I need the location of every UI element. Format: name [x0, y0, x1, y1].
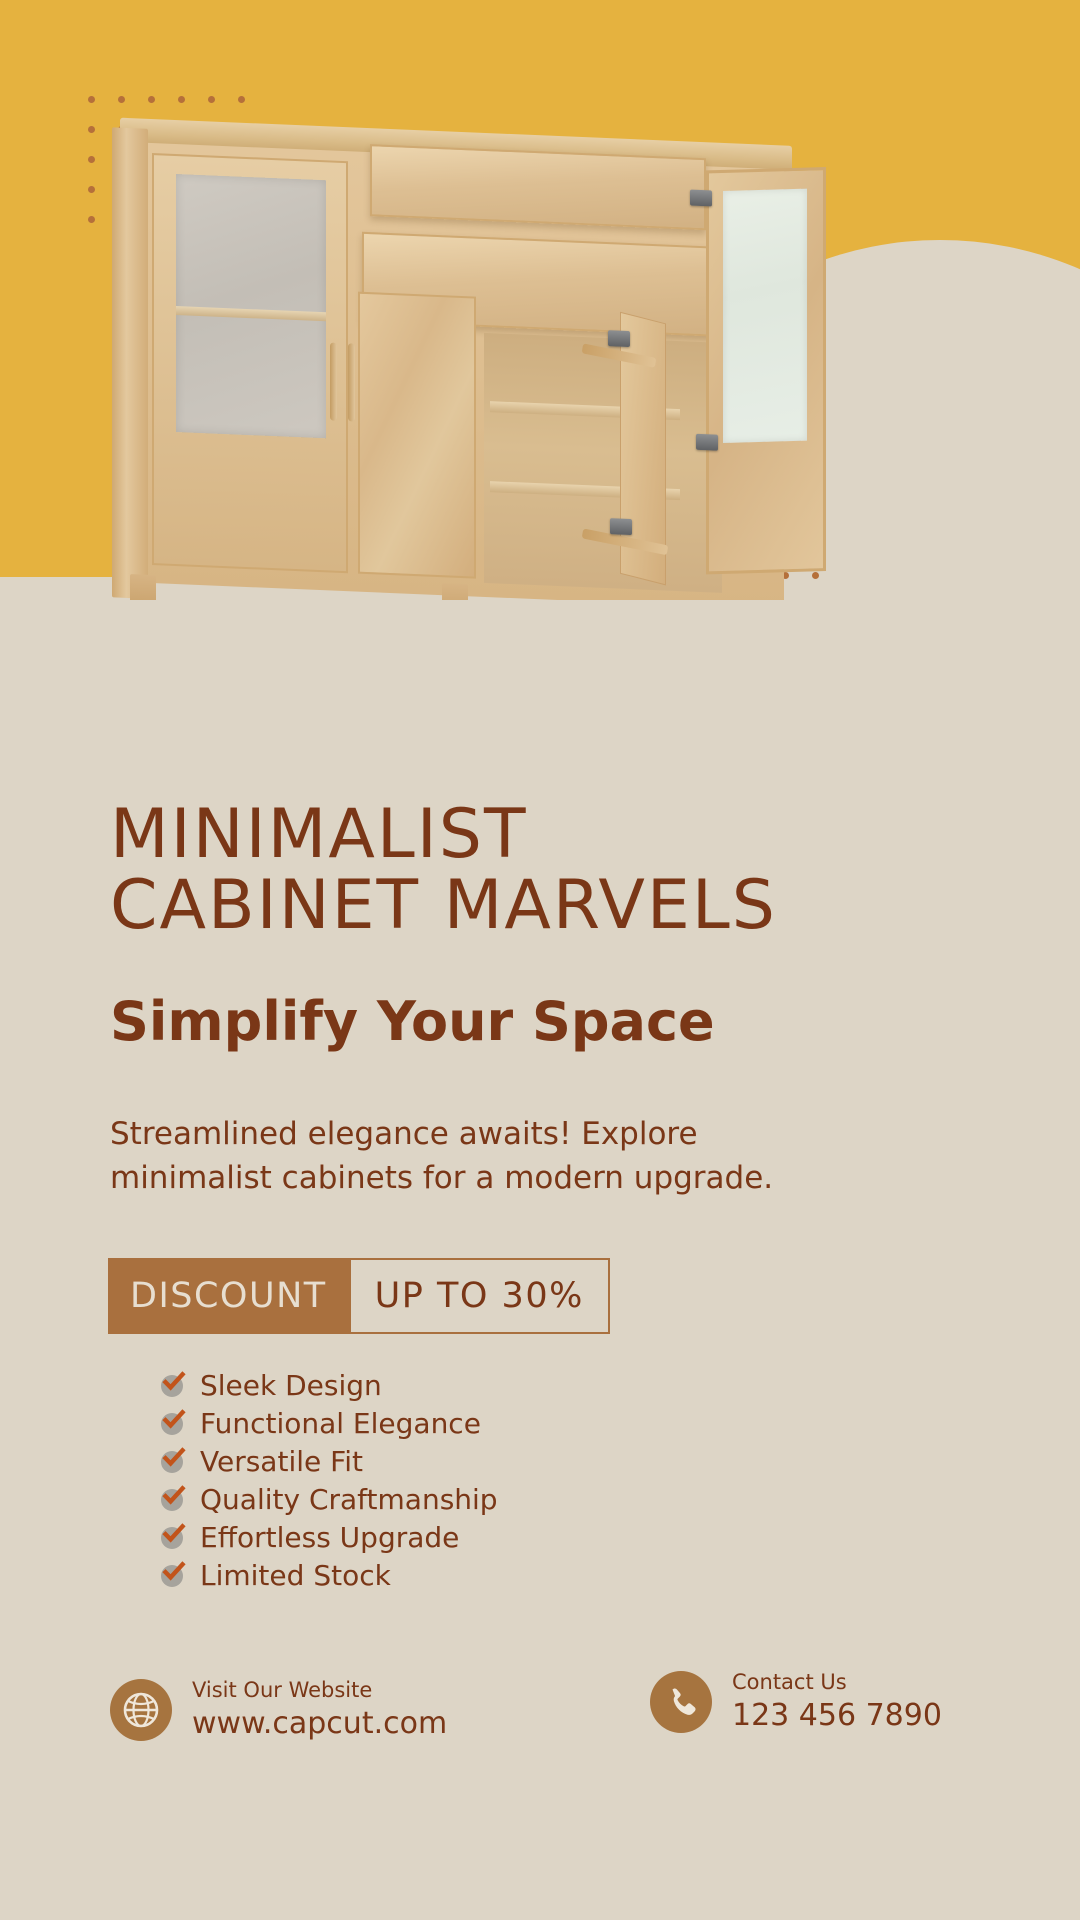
decorative-dot [148, 96, 155, 103]
list-item: Quality Craftmanship [160, 1484, 498, 1514]
contact-phone-value[interactable]: 123 456 7890 [732, 1698, 942, 1733]
contact-phone-caption: Contact Us [732, 1670, 942, 1694]
cabinet-drawer-top [370, 144, 706, 230]
decorative-dot [238, 96, 245, 103]
decorative-dot [88, 186, 95, 193]
cabinet-mirror-door [706, 167, 826, 574]
poster-canvas: MINIMALIST CABINET MARVELS Simplify Your… [0, 0, 1080, 1920]
discount-badge-label: DISCOUNT [108, 1258, 349, 1334]
check-circle-icon [160, 1486, 186, 1512]
check-circle-icon [160, 1524, 186, 1550]
cabinet-solid-door-handle [348, 343, 355, 421]
cabinet-hinge-top [608, 330, 630, 347]
headline-line-2: CABINET MARVELS [110, 871, 777, 942]
cabinet-solid-door [358, 292, 476, 579]
feature-list: Sleek DesignFunctional EleganceVersatile… [160, 1370, 498, 1598]
headline-line-1: MINIMALIST [110, 795, 527, 874]
feature-label: Limited Stock [200, 1559, 391, 1592]
product-image-cabinet [112, 117, 812, 600]
list-item: Effortless Upgrade [160, 1522, 498, 1552]
page-title: MINIMALIST CABINET MARVELS [110, 800, 777, 941]
list-item: Versatile Fit [160, 1446, 498, 1476]
contact-website-text: Visit Our Website www.capcut.com [192, 1678, 447, 1741]
cabinet-leg-left [130, 574, 156, 600]
discount-badge-value: UP TO 30% [349, 1258, 610, 1334]
decorative-dot [118, 96, 125, 103]
cabinet-mirror-pane [723, 189, 807, 443]
hero-section [0, 0, 1080, 600]
contact-website[interactable]: Visit Our Website www.capcut.com [110, 1678, 447, 1741]
list-item: Limited Stock [160, 1560, 498, 1590]
decorative-dot [812, 572, 819, 579]
decorative-dot [88, 96, 95, 103]
body-copy-line-2: minimalist cabinets for a modern upgrade… [110, 1160, 773, 1196]
globe-icon [110, 1679, 172, 1741]
list-item: Functional Elegance [160, 1408, 498, 1438]
cabinet-hinge-bottom [610, 518, 632, 535]
body-copy: Streamlined elegance awaits! Explore min… [110, 1112, 800, 1200]
body-copy-line-1: Streamlined elegance awaits! Explore [110, 1116, 698, 1152]
feature-label: Effortless Upgrade [200, 1521, 459, 1554]
check-circle-icon [160, 1372, 186, 1398]
feature-label: Functional Elegance [200, 1407, 481, 1440]
contact-website-value[interactable]: www.capcut.com [192, 1706, 447, 1741]
decorative-dot [208, 96, 215, 103]
check-circle-icon [160, 1562, 186, 1588]
cabinet-glass-door [152, 153, 348, 573]
list-item: Sleek Design [160, 1370, 498, 1400]
feature-label: Quality Craftmanship [200, 1483, 498, 1516]
feature-label: Sleek Design [200, 1369, 382, 1402]
decorative-dot [88, 156, 95, 163]
cabinet-left-side-panel [112, 127, 148, 599]
footer-contacts: Visit Our Website www.capcut.com Contact… [0, 1660, 1080, 1820]
decorative-dot [88, 216, 95, 223]
check-circle-icon [160, 1410, 186, 1436]
subtitle: Simplify Your Space [110, 990, 715, 1053]
discount-badge[interactable]: DISCOUNT UP TO 30% [108, 1258, 610, 1334]
cabinet-glass-door-handle [330, 342, 337, 420]
feature-label: Versatile Fit [200, 1445, 363, 1478]
contact-phone[interactable]: Contact Us 123 456 7890 [650, 1670, 942, 1733]
cabinet-leg-center [442, 583, 468, 600]
check-circle-icon [160, 1448, 186, 1474]
cabinet-open-cavity [484, 333, 722, 593]
decorative-dot [88, 126, 95, 133]
cabinet-mirror-hinge-bottom [696, 434, 718, 451]
decorative-dot [178, 96, 185, 103]
phone-icon [650, 1671, 712, 1733]
contact-website-caption: Visit Our Website [192, 1678, 447, 1702]
cabinet-mirror-hinge-top [690, 190, 712, 207]
contact-phone-text: Contact Us 123 456 7890 [732, 1670, 942, 1733]
